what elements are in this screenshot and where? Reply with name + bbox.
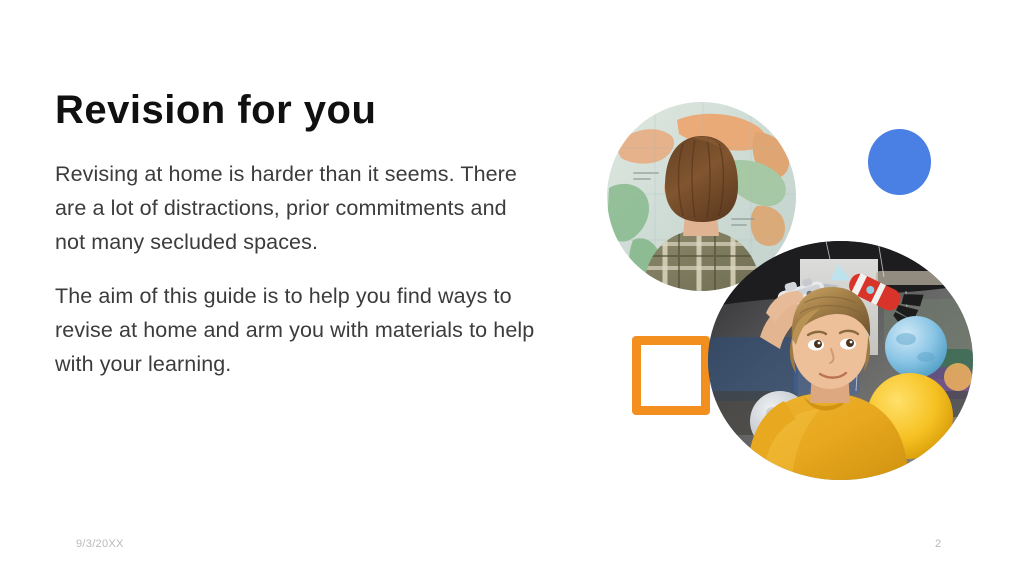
page-title: Revision for you bbox=[55, 87, 376, 133]
slide: Revision for you Revising at home is har… bbox=[0, 0, 1024, 576]
orange-square-accent bbox=[632, 336, 710, 415]
footer-page-number: 2 bbox=[935, 538, 941, 550]
footer-date: 9/3/20XX bbox=[76, 538, 124, 550]
blue-circle-accent bbox=[868, 129, 931, 195]
body-paragraph: Revising at home is harder than it seems… bbox=[55, 157, 535, 259]
body-paragraph: The aim of this guide is to help you fin… bbox=[55, 279, 535, 381]
boy-with-solar-system-model-image bbox=[708, 241, 973, 480]
body-text-block: Revising at home is harder than it seems… bbox=[55, 157, 535, 381]
